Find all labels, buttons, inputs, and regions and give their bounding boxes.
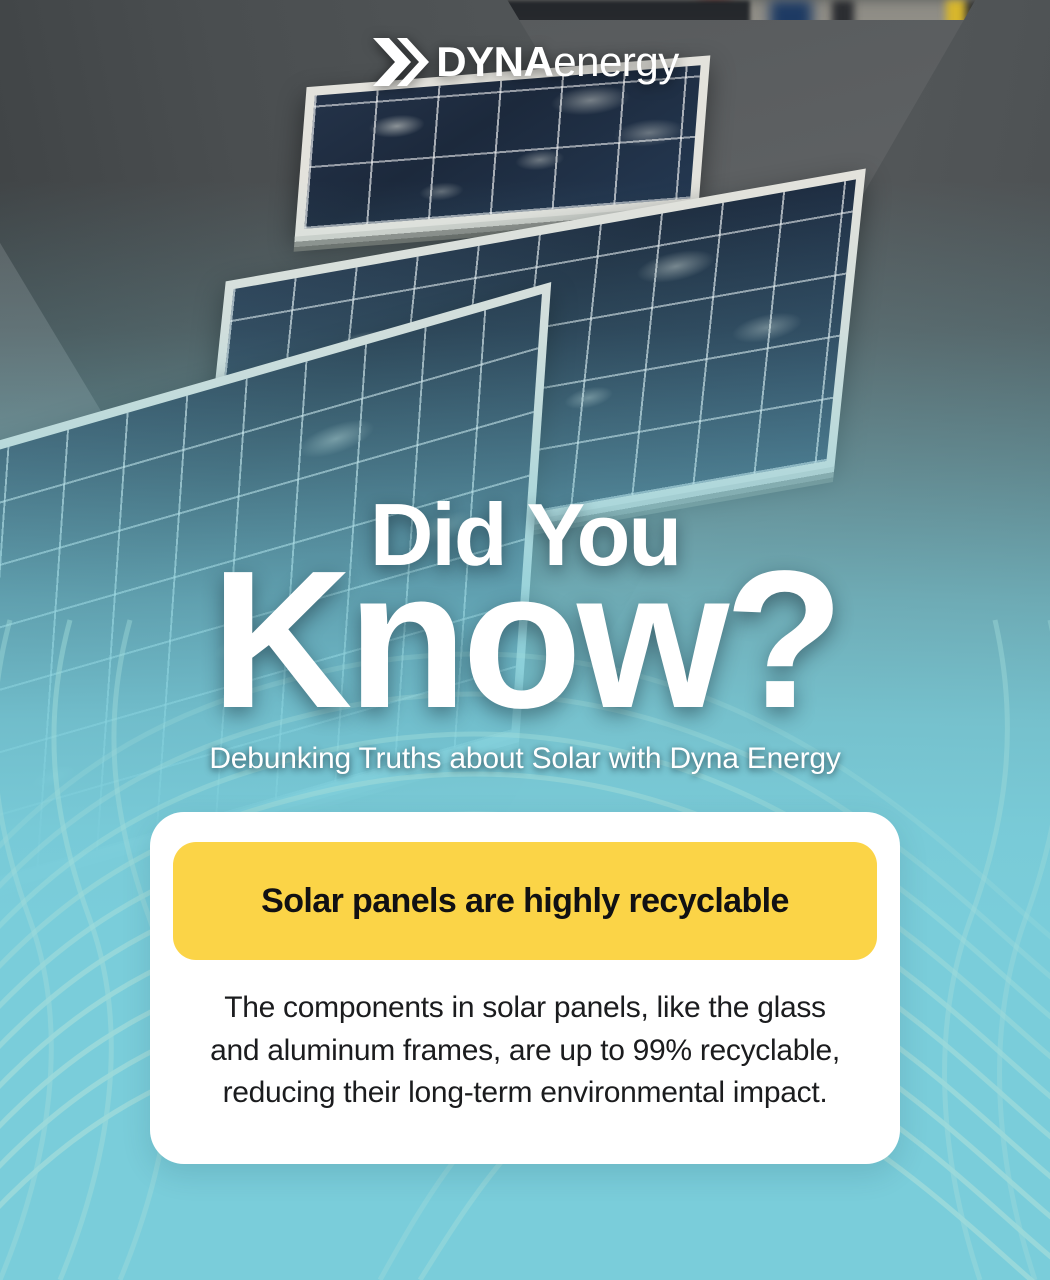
fact-body-text: The components in solar panels, like the… <box>198 987 852 1115</box>
headline-line-2: Know? <box>0 567 1050 712</box>
headline-subtitle: Debunking Truths about Solar with Dyna E… <box>0 742 1050 776</box>
fact-badge-label: Solar panels are highly recyclable <box>261 882 789 921</box>
double-chevron-icon <box>371 36 429 88</box>
logo-wordmark: DYNAenergy <box>436 41 678 83</box>
fact-card: Solar panels are highly recyclable The c… <box>150 812 900 1164</box>
fact-badge: Solar panels are highly recyclable <box>173 842 877 960</box>
social-post-poster: DYNAenergy Did You Know? Debunking Truth… <box>0 0 1050 1280</box>
brand-logo[interactable]: DYNAenergy <box>0 36 1050 88</box>
headline-block: Did You Know? <box>0 497 1050 712</box>
logo-bold-text: DYNA <box>436 38 553 85</box>
logo-light-text: energy <box>553 38 678 85</box>
